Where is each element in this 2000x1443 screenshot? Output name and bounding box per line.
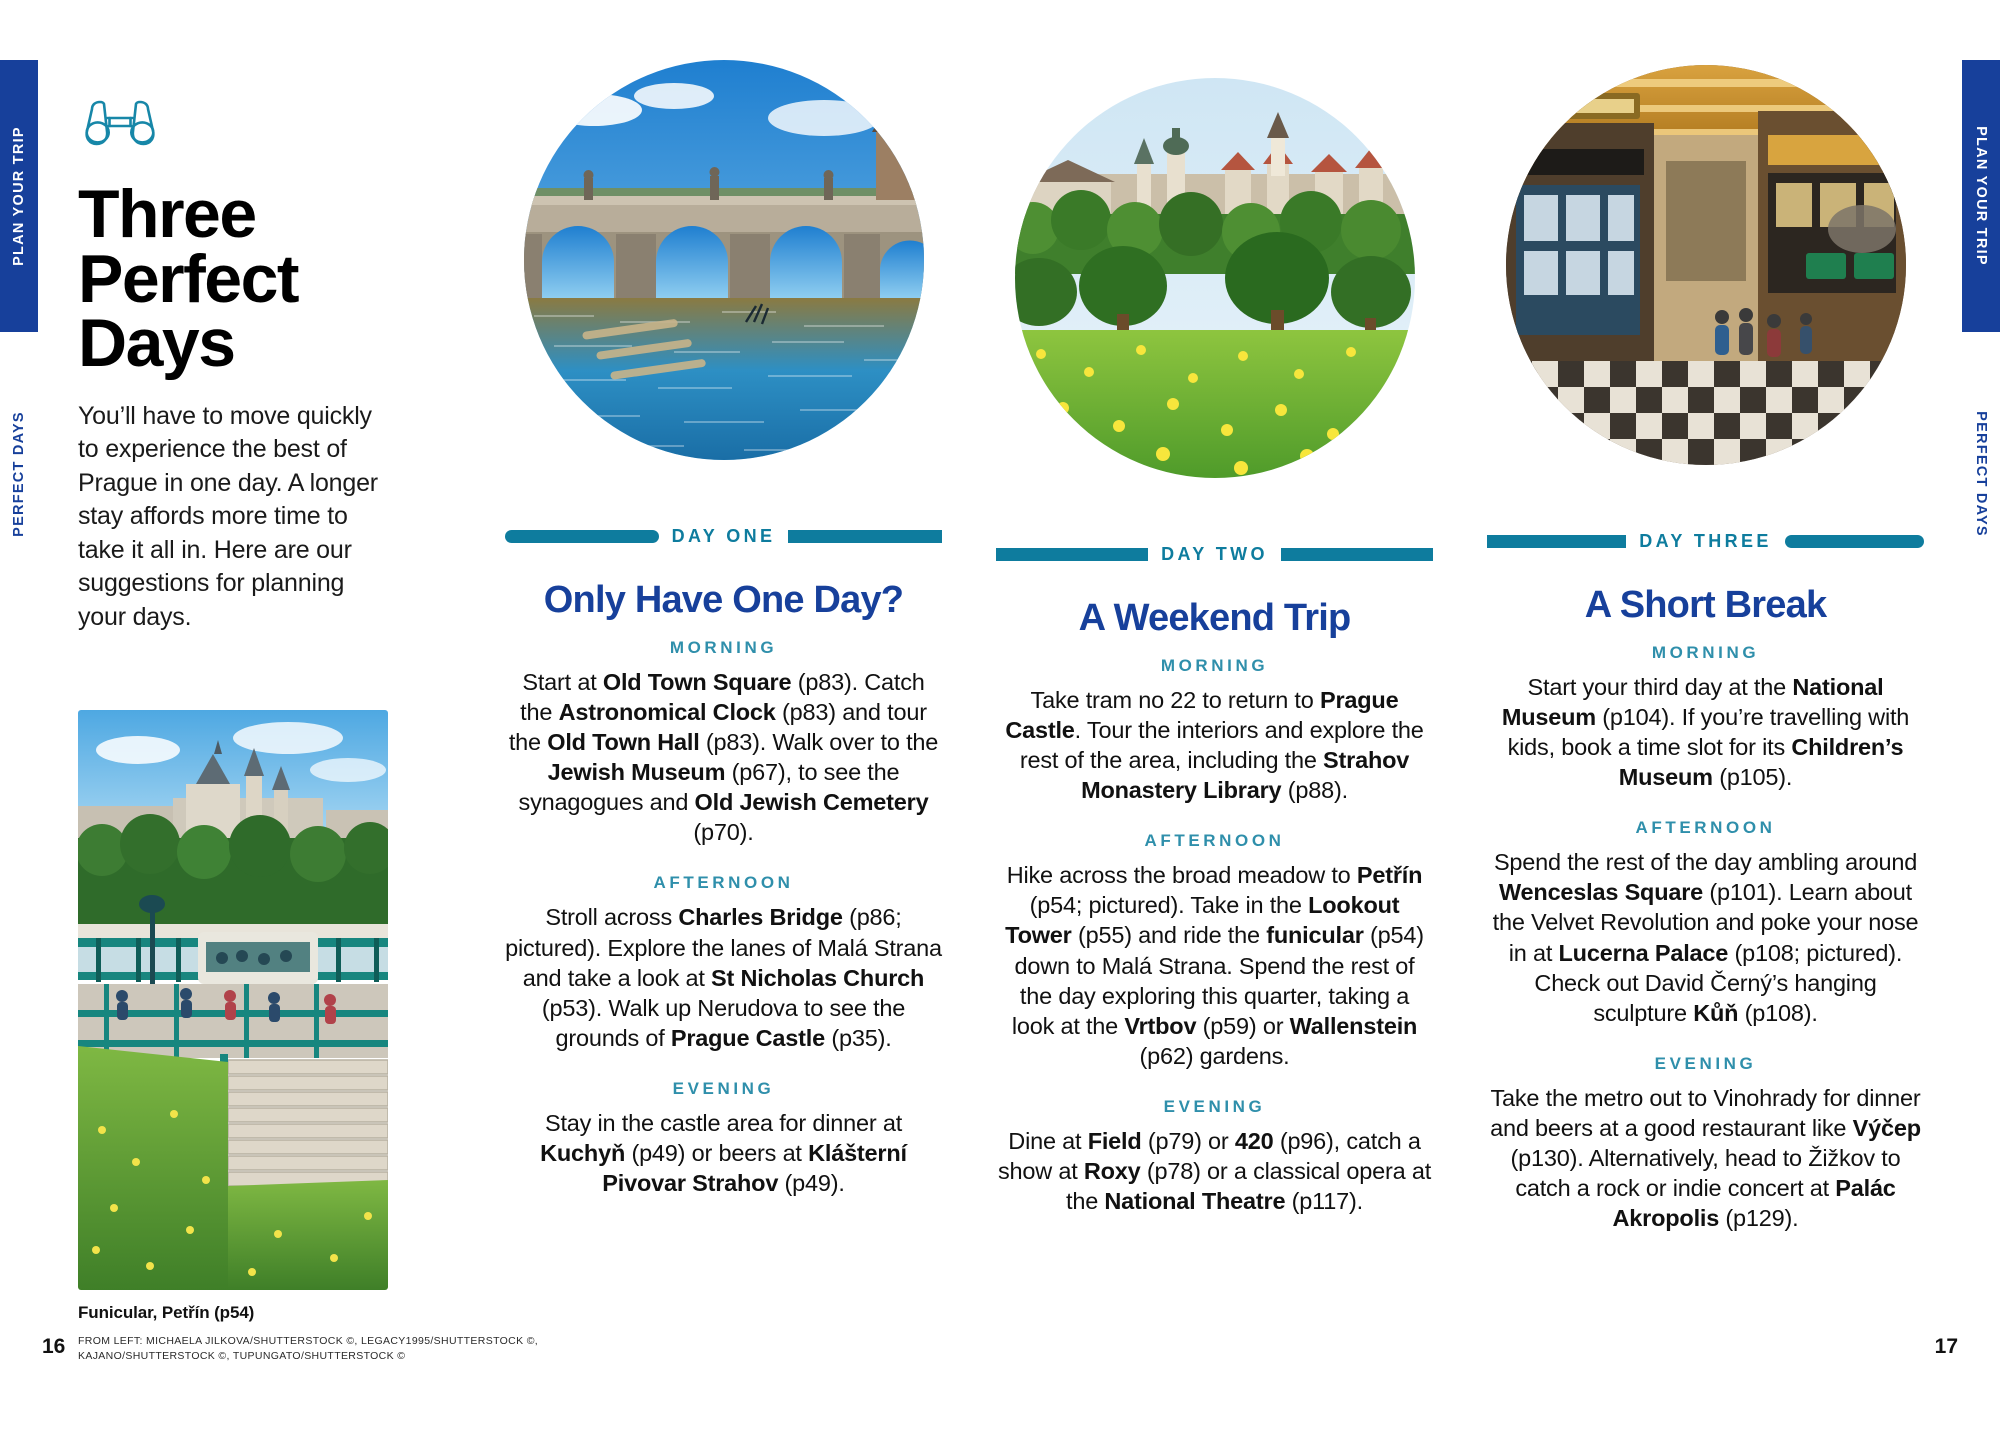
page-number-left: 16 [42,1335,65,1359]
intro-paragraph: You’ll have to move quickly to experienc… [78,400,388,635]
funicular-photo [78,710,388,1290]
petrin-meadow-photo [1015,78,1415,478]
slot-label-afternoon: AFTERNOON [505,873,942,893]
page-number-right: 17 [1935,1335,1958,1359]
slot-body-morning: Start at Old Town Square (p83). Catch th… [505,667,942,847]
day-rule-three: DAY THREE [1487,530,1924,552]
slot-body-evening: Take the metro out to Vinohrady for dinn… [1487,1083,1924,1233]
day-rule-bar-left [505,530,659,543]
slot-label-morning: MORNING [1487,643,1924,663]
day-rule-bar-right [1785,535,1924,548]
day-one-heading: Only Have One Day? [505,579,942,622]
photo-credits: FROM LEFT: MICHAELA JILKOVA/SHUTTERSTOCK… [78,1334,638,1364]
right-tab-perfect-label: PERFECT DAYS [1962,348,2000,600]
day-rule-two: DAY TWO [996,543,1433,565]
slot-label-morning: MORNING [505,638,942,658]
day-rule-label: DAY THREE [1639,531,1772,552]
lucerna-passage-photo [1506,65,1906,465]
slot-label-afternoon: AFTERNOON [996,831,1433,851]
slot-body-afternoon: Stroll across Charles Bridge (p86; pictu… [505,902,942,1052]
day-rule-label: DAY TWO [1161,544,1268,565]
charles-bridge-photo [524,60,924,460]
intro-block: Three Perfect Days You’ll have to move q… [78,96,388,634]
slot-body-afternoon: Spend the rest of the day ambling around… [1487,847,1924,1027]
day-rule-bar-left [1487,535,1626,548]
day-rule-one: DAY ONE [505,525,942,547]
slot-label-morning: MORNING [996,656,1433,676]
photo-caption: Funicular, Petřín (p54) [78,1303,254,1323]
right-side-tab: PLAN YOUR TRIP PERFECT DAYS [1962,0,2000,1443]
day-two-heading: A Weekend Trip [996,597,1433,640]
slot-label-afternoon: AFTERNOON [1487,818,1924,838]
day-rule-bar-left [996,548,1148,561]
right-tab-plan-label: PLAN YOUR TRIP [1962,60,2000,332]
day-column-two: DAY TWO A Weekend Trip MORNING Take tram… [996,60,1433,1259]
day-rule-label: DAY ONE [672,526,776,547]
page-title: Three Perfect Days [78,182,388,376]
left-side-tab: PLAN YOUR TRIP PERFECT DAYS [0,0,38,1443]
binoculars-icon [78,96,162,156]
slot-label-evening: EVENING [505,1079,942,1099]
left-tab-plan-label: PLAN YOUR TRIP [0,60,38,332]
slot-body-evening: Stay in the castle area for dinner at Ku… [505,1108,942,1198]
day-rule-bar-right [788,530,942,543]
slot-label-evening: EVENING [996,1097,1433,1117]
slot-body-morning: Start your third day at the National Mus… [1487,672,1924,792]
slot-body-afternoon: Hike across the broad meadow to Petřín (… [996,860,1433,1071]
slot-body-morning: Take tram no 22 to return to Prague Cast… [996,685,1433,805]
day-column-three: DAY THREE A Short Break MORNING Start yo… [1487,60,1924,1259]
day-three-heading: A Short Break [1487,584,1924,627]
left-tab-perfect-label: PERFECT DAYS [0,348,38,600]
day-rule-bar-right [1281,548,1433,561]
day-column-one: DAY ONE Only Have One Day? MORNING Start… [505,60,942,1259]
slot-body-evening: Dine at Field (p79) or 420 (p96), catch … [996,1126,1433,1216]
slot-label-evening: EVENING [1487,1054,1924,1074]
day-columns: DAY ONE Only Have One Day? MORNING Start… [505,60,1925,1259]
